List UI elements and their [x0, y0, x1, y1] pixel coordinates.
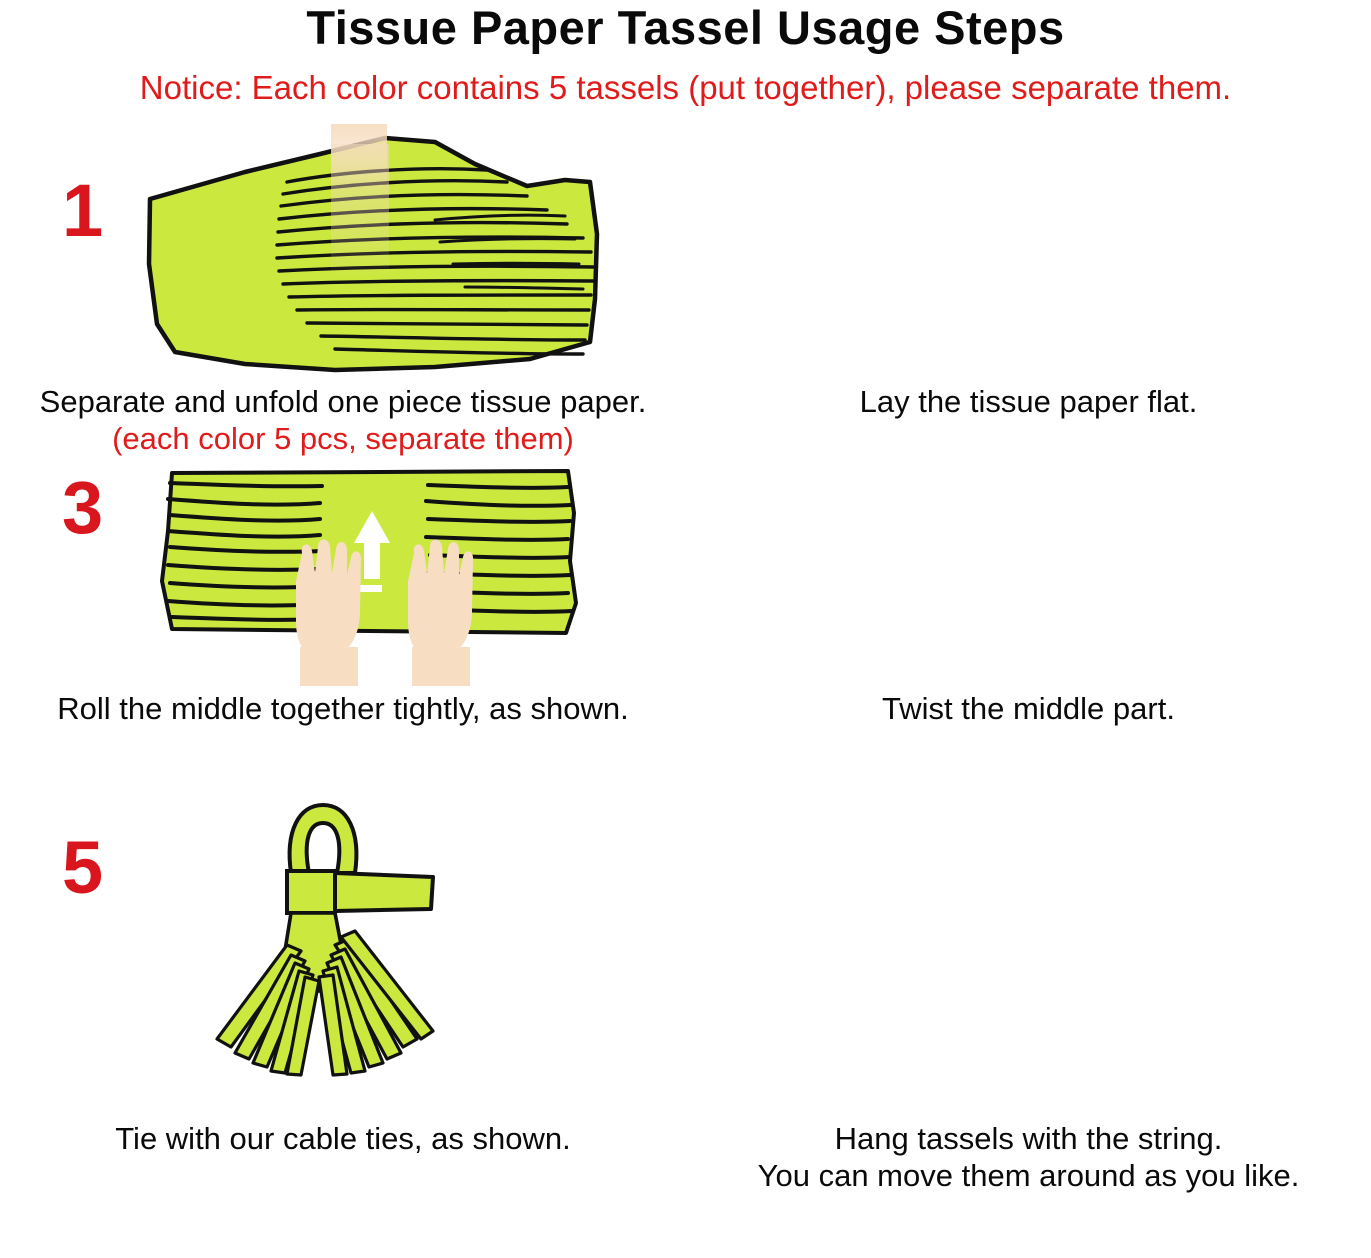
instruction-poster: Tissue Paper Tassel Usage Steps Notice: … — [0, 4, 1371, 1218]
step-3-caption: Roll the middle together tightly, as sho… — [0, 691, 686, 728]
step-3-illustration — [150, 461, 590, 686]
notice-text: Notice: Each color contains 5 tassels (p… — [0, 71, 1371, 104]
step-number-5: 5 — [62, 831, 103, 905]
step-2: 2 — [686, 116, 1371, 461]
rolling-middle-hands-icon — [150, 461, 590, 686]
step-2-caption: Lay the tissue paper flat. — [686, 384, 1371, 421]
crumpled-tissue-paper-icon — [135, 124, 605, 384]
step-number-1: 1 — [62, 174, 103, 248]
step-2-caption-block: Lay the tissue paper flat. — [686, 384, 1371, 421]
step-1: 1 — [0, 116, 686, 461]
step-3: 3 — [0, 461, 686, 803]
step-6-subcaption: You can move them around as you like. — [686, 1158, 1371, 1195]
step-1-caption: Separate and unfold one piece tissue pap… — [0, 384, 686, 421]
step-4-caption-block: Twist the middle part. — [686, 691, 1371, 728]
page-title: Tissue Paper Tassel Usage Steps — [0, 4, 1371, 51]
step-4-caption: Twist the middle part. — [686, 691, 1371, 728]
tied-tassel-icon — [195, 795, 495, 1100]
step-5: 5 — [0, 803, 686, 1218]
step-6-caption: Hang tassels with the string. — [686, 1121, 1371, 1158]
step-5-illustration — [195, 795, 495, 1100]
step-4: 4 — [686, 461, 1371, 803]
steps-grid: 1 — [0, 116, 1371, 1218]
right-hand-icon — [408, 540, 473, 687]
cable-tie-icon — [287, 871, 433, 913]
step-6-caption-block: Hang tassels with the string. You can mo… — [686, 1121, 1371, 1194]
step-6: 6 — [686, 803, 1371, 1218]
step-5-caption: Tie with our cable ties, as shown. — [0, 1121, 686, 1158]
step-1-caption-block: Separate and unfold one piece tissue pap… — [0, 384, 686, 457]
step-number-3: 3 — [62, 471, 103, 545]
left-hand-icon — [296, 540, 361, 687]
step-1-subcaption: (each color 5 pcs, separate them) — [0, 421, 686, 458]
step-5-caption-block: Tie with our cable ties, as shown. — [0, 1121, 686, 1158]
step-3-caption-block: Roll the middle together tightly, as sho… — [0, 691, 686, 728]
step-1-illustration — [135, 124, 605, 384]
